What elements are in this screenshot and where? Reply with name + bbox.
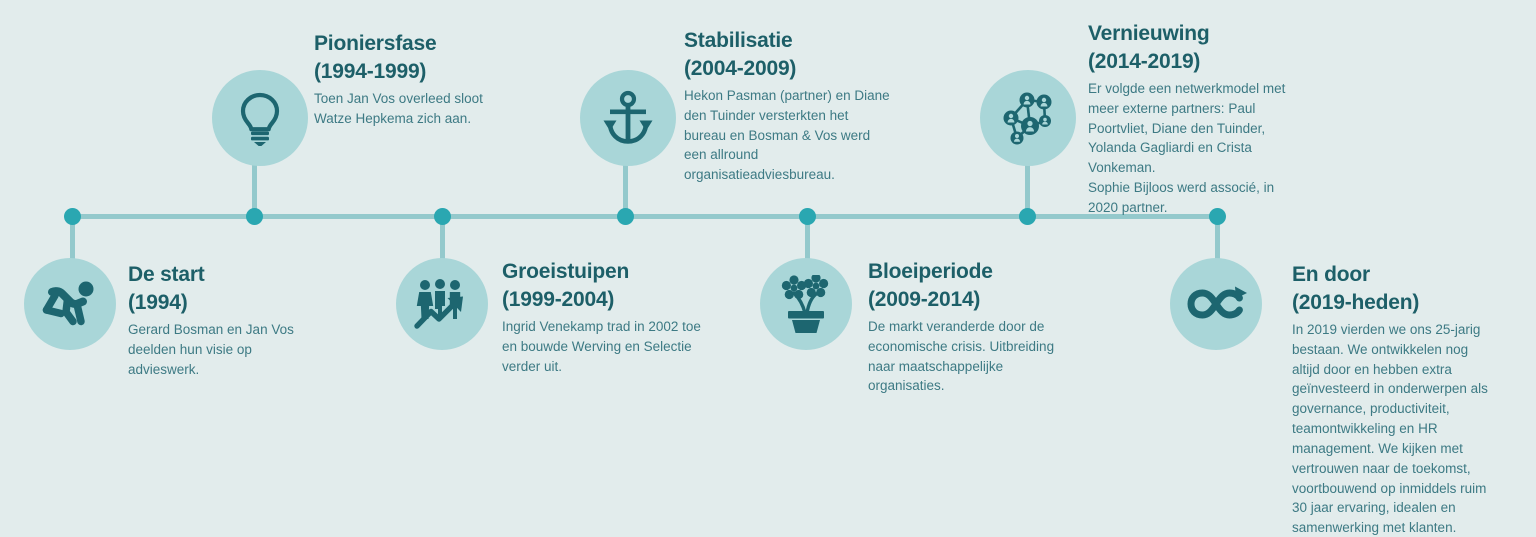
node-dot-de-start[interactable]: [64, 208, 81, 225]
milestone-title: Groeistuipen: [502, 258, 706, 286]
anchor-icon: [599, 89, 657, 147]
timeline-infographic: Pioniersfase (1994-1999) Toen Jan Vos ov…: [0, 0, 1536, 537]
milestone-title: Bloeiperiode: [868, 258, 1078, 286]
node-dot-pioniersfase[interactable]: [246, 208, 263, 225]
growth-people-icon: [411, 276, 473, 332]
lightbulb-icon: [234, 90, 286, 146]
icon-circle-pioniersfase[interactable]: [212, 70, 308, 166]
icon-circle-bloeiperiode[interactable]: [760, 258, 852, 350]
milestone-text-groeistuipen: Groeistuipen (1999-2004) Ingrid Venekamp…: [502, 258, 706, 376]
node-dot-groeistuipen[interactable]: [434, 208, 451, 225]
icon-circle-en-door[interactable]: [1170, 258, 1262, 350]
milestone-text-pioniersfase: Pioniersfase (1994-1999) Toen Jan Vos ov…: [314, 30, 514, 129]
icon-circle-vernieuwing[interactable]: [980, 70, 1076, 166]
milestone-description: Hekon Pasman (partner) en Diane den Tuin…: [684, 86, 890, 185]
node-dot-stabilisatie[interactable]: [617, 208, 634, 225]
milestone-description: Ingrid Venekamp trad in 2002 toe en bouw…: [502, 317, 706, 377]
milestone-period: (1999-2004): [502, 286, 706, 314]
icon-circle-groeistuipen[interactable]: [396, 258, 488, 350]
milestone-text-bloeiperiode: Bloeiperiode (2009-2014) De markt verand…: [868, 258, 1078, 396]
milestone-text-de-start: De start (1994) Gerard Bosman en Jan Vos…: [128, 261, 324, 379]
milestone-text-en-door: En door (2019-heden) In 2019 vierden we …: [1292, 261, 1492, 537]
milestone-title: En door: [1292, 261, 1492, 289]
timeline-axis: [70, 214, 1220, 219]
milestone-text-vernieuwing: Vernieuwing (2014-2019) Er volgde een ne…: [1088, 20, 1288, 218]
milestone-description: De markt veranderde door de economische …: [868, 317, 1078, 396]
milestone-title: De start: [128, 261, 324, 289]
milestone-title: Vernieuwing: [1088, 20, 1288, 48]
milestone-title: Stabilisatie: [684, 27, 890, 55]
icon-circle-de-start[interactable]: [24, 258, 116, 350]
milestone-period: (2004-2009): [684, 55, 890, 83]
milestone-period: (2014-2019): [1088, 48, 1288, 76]
runner-icon: [41, 278, 99, 330]
milestone-period: (2019-heden): [1292, 289, 1492, 317]
milestone-description: In 2019 vierden we ons 25-jarig bestaan.…: [1292, 320, 1492, 537]
flower-pot-icon: [778, 275, 834, 333]
milestone-description: Gerard Bosman en Jan Vos deelden hun vis…: [128, 320, 324, 380]
milestone-text-stabilisatie: Stabilisatie (2004-2009) Hekon Pasman (p…: [684, 27, 890, 185]
network-people-icon: [997, 88, 1059, 148]
node-dot-vernieuwing[interactable]: [1019, 208, 1036, 225]
milestone-description: Toen Jan Vos overleed sloot Watze Hepkem…: [314, 89, 514, 129]
node-dot-bloeiperiode[interactable]: [799, 208, 816, 225]
milestone-period: (1994): [128, 289, 324, 317]
milestone-period: (2009-2014): [868, 286, 1078, 314]
milestone-title: Pioniersfase: [314, 30, 514, 58]
milestone-period: (1994-1999): [314, 58, 514, 86]
milestone-description: Er volgde een netwerkmodel met meer exte…: [1088, 79, 1288, 218]
infinity-arrow-icon: [1183, 284, 1249, 324]
icon-circle-stabilisatie[interactable]: [580, 70, 676, 166]
